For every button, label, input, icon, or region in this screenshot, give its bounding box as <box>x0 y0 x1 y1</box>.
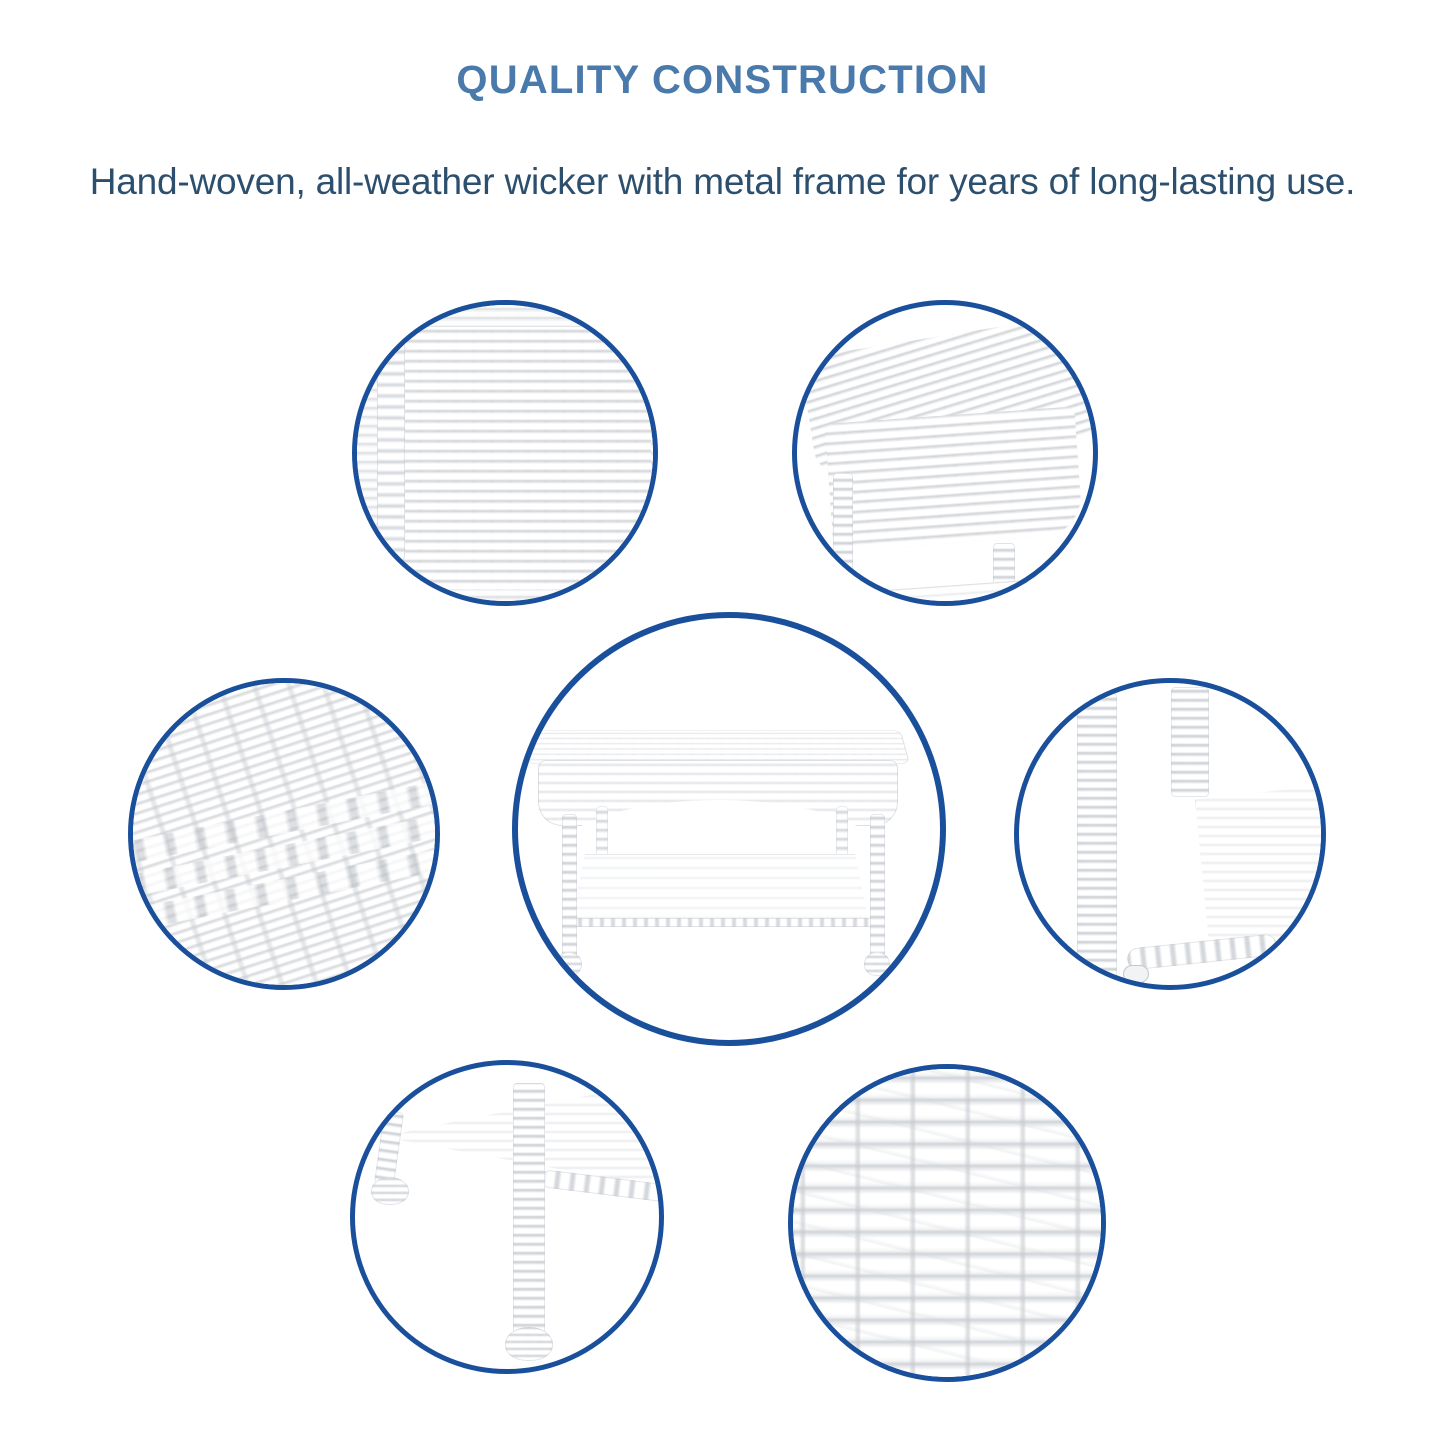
table-foot-right <box>864 952 890 976</box>
tabletop-edge-trim <box>377 315 405 569</box>
lower-shelf-panel <box>1195 779 1321 951</box>
table-foot-left <box>556 952 582 976</box>
table-top <box>526 730 910 764</box>
table-foot-far <box>371 1177 409 1205</box>
product-illustration <box>518 618 940 1040</box>
detail-bubble-left <box>128 678 440 990</box>
table-leg-near <box>513 1083 545 1341</box>
detail-bubble-right <box>1014 678 1326 990</box>
frame-leg-left <box>1077 693 1117 985</box>
bubble-image-center <box>518 618 940 1040</box>
table-foot-near <box>505 1327 553 1361</box>
apron-weave-texture <box>825 406 1083 551</box>
table-leg-far <box>374 1110 404 1186</box>
detail-bubble-center <box>512 612 946 1046</box>
lower-shelf <box>570 854 870 926</box>
bubble-image-top-right <box>797 305 1093 601</box>
lower-shelf-rail <box>568 918 874 927</box>
detail-bubble-bottom-left <box>350 1060 664 1374</box>
horizontal-weave-texture <box>793 1069 1101 1377</box>
detail-bubble-top-right <box>792 300 1098 606</box>
frame-leg-right <box>1171 687 1209 797</box>
shelf-bracket-hardware <box>1123 965 1149 983</box>
detail-bubble-bottom-right <box>788 1064 1106 1382</box>
table-leg-front-right <box>870 814 885 960</box>
lower-shelf-edge <box>836 577 1078 601</box>
table-apron-side <box>825 406 1083 551</box>
bubble-image-right <box>1019 683 1321 985</box>
bubble-image-top-left <box>357 305 653 601</box>
detail-collage <box>0 0 1445 1445</box>
detail-bubble-top-left <box>352 300 658 606</box>
bubble-image-bottom-right <box>793 1069 1101 1377</box>
table-leg-front <box>833 473 853 601</box>
basket-weave-texture <box>401 327 651 589</box>
table-leg-front-left <box>562 814 577 960</box>
bubble-image-bottom-left <box>355 1065 659 1369</box>
bubble-image-left <box>133 683 435 985</box>
tabletop-slab <box>401 327 651 589</box>
shelf-wrapped-rail <box>1126 933 1277 971</box>
